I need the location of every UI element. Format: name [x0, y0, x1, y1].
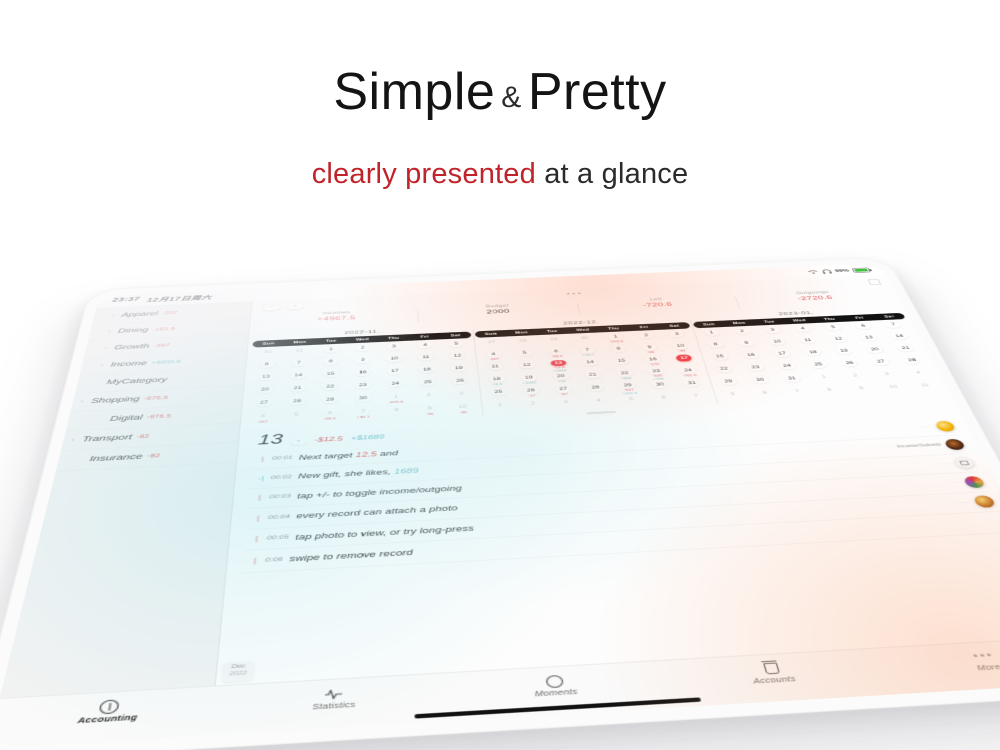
record-type-icon[interactable]: |	[254, 514, 262, 522]
calendar-day-cell[interactable]: 29	[538, 336, 571, 349]
day-number[interactable]: 17	[676, 354, 693, 361]
calendar-day-cell[interactable]: 12	[441, 352, 474, 365]
calendar-day-cell[interactable]: 6	[847, 322, 883, 334]
circle-icon[interactable]	[444, 667, 665, 695]
day-number[interactable]: 23	[355, 381, 371, 389]
tab-accounting[interactable]: Accounting	[0, 692, 223, 730]
day-number[interactable]: 2	[525, 400, 542, 408]
calendar-day-cell[interactable]: 4-287	[245, 412, 280, 427]
record-type-icon[interactable]: -|	[257, 475, 265, 482]
calendar-day-cell[interactable]: 1-876.5	[379, 392, 412, 406]
day-number[interactable]: 27	[872, 358, 890, 365]
calendar-day-cell[interactable]: 26	[444, 377, 478, 391]
day-number[interactable]: 10	[672, 342, 689, 349]
day-number[interactable]: 13	[550, 360, 566, 366]
day-number[interactable]: 14	[582, 359, 599, 366]
calendar-day-cell[interactable]: 18+6.6	[480, 375, 514, 389]
day-number[interactable]: 7	[885, 321, 903, 328]
calendar-day-cell[interactable]: 4	[581, 396, 617, 410]
day-number[interactable]: 4	[417, 341, 432, 348]
day-number[interactable]: 8	[707, 341, 724, 348]
day-number[interactable]: 15	[323, 370, 339, 378]
calendar-day-cell[interactable]: 6-89.6	[540, 347, 574, 360]
day-number[interactable]: 4	[909, 369, 928, 377]
calendar-day-cell[interactable]: 1	[315, 345, 347, 358]
calendar-day-cell[interactable]: 4-287	[477, 350, 510, 363]
calendar-day-cell[interactable]: 3	[661, 330, 695, 343]
day-number[interactable]: 7	[355, 407, 371, 415]
sidebar-item-dining[interactable]: ›Dining-161.6	[88, 318, 250, 341]
calendar-day-cell[interactable]: 27	[864, 358, 901, 371]
sidebar-item-income[interactable]: ›Income+4800.6	[79, 351, 246, 376]
calendar-day-cell[interactable]: 2	[726, 327, 761, 339]
calendar-day-cell[interactable]: 14	[883, 332, 919, 345]
chevron-right-icon[interactable]: ›	[67, 438, 78, 443]
day-number[interactable]: 1	[815, 373, 833, 381]
day-number[interactable]: 1	[492, 401, 509, 409]
window-dots-icon[interactable]: •••	[566, 291, 584, 297]
day-number[interactable]: 3	[557, 398, 574, 406]
day-number[interactable]: 18	[804, 349, 822, 356]
calendar-day-cell[interactable]: 12	[510, 361, 544, 374]
calendar-day-cell[interactable]: 15	[605, 357, 639, 370]
day-number[interactable]: 20	[552, 372, 569, 380]
day-number[interactable]: 1	[703, 329, 720, 336]
sidebar-item-transport[interactable]: ›Transport-82	[61, 423, 240, 451]
sidebar-item-apparel[interactable]: ›Apparel-207	[92, 302, 251, 324]
tab-moments[interactable]: Moments	[444, 667, 667, 704]
day-number[interactable]: 29	[619, 382, 636, 389]
calendar-day-cell[interactable]: 10	[761, 338, 796, 351]
day-number[interactable]: 30	[260, 348, 276, 355]
day-number[interactable]: 18	[489, 375, 505, 383]
calendar-day-cell[interactable]: 1	[807, 373, 844, 387]
calendar-day-cell[interactable]: 7	[780, 387, 817, 401]
calendar-day-cell[interactable]: 10	[876, 383, 914, 397]
day-number[interactable]: 7	[788, 387, 806, 395]
sidebar-item-insurance[interactable]: Insurance-82	[56, 443, 238, 472]
calendar-day-cell[interactable]: 24-761.5	[671, 366, 706, 379]
record-more-icon[interactable]: ···	[939, 461, 952, 466]
calendar-day-cell[interactable]: 21	[281, 384, 314, 398]
chevron-right-icon[interactable]: ›	[77, 399, 87, 404]
day-number[interactable]: 11	[799, 337, 817, 344]
day-number[interactable]: 30	[651, 381, 668, 389]
calendar-day-cell[interactable]: 4	[409, 341, 441, 354]
day-number[interactable]: 29	[720, 378, 738, 386]
calendar-day-cell[interactable]: 11	[479, 362, 512, 375]
calendar-day-cell[interactable]: 24	[379, 379, 412, 393]
day-number[interactable]: 6	[548, 348, 564, 355]
day-number[interactable]: 23	[747, 364, 765, 372]
calendar-day-cell[interactable]: 30	[251, 348, 284, 361]
calendar-title[interactable]: 2023-01.	[690, 305, 902, 322]
calendar-day-cell[interactable]: 27	[476, 338, 509, 351]
day-number[interactable]: 16	[644, 356, 661, 363]
day-number[interactable]: 9	[421, 404, 437, 412]
day-number[interactable]: 8	[820, 386, 838, 394]
day-number[interactable]: 27	[256, 399, 272, 407]
sidebar-item-digital[interactable]: Digital-876.5	[66, 404, 242, 431]
calendar-day-cell[interactable]: 23-526+765	[640, 368, 675, 381]
calendar-day-cell[interactable]: 31	[775, 374, 812, 388]
calendar-day-cell[interactable]: 6	[748, 389, 785, 403]
day-number[interactable]: 2	[355, 344, 370, 351]
day-number[interactable]: 8	[388, 406, 404, 414]
day-number[interactable]: 2	[638, 332, 655, 339]
calendar-day-cell[interactable]: 28	[895, 356, 932, 369]
calendar-title[interactable]: 2022-11.	[253, 323, 471, 341]
day-number[interactable]: 5	[724, 390, 742, 398]
day-number[interactable]: 15	[613, 357, 630, 364]
calendar-day-cell[interactable]: 6	[646, 393, 682, 407]
day-number[interactable]: 10	[454, 403, 471, 411]
record-type-icon[interactable]: |	[252, 535, 260, 543]
calendar-month-2022-12[interactable]: 2022-12.SunMonTueWedThuFriSat272829301-8…	[474, 314, 715, 415]
day-number[interactable]: 13	[860, 334, 878, 341]
day-number[interactable]: 21	[290, 384, 306, 392]
calendar-day-cell[interactable]: 21	[889, 344, 926, 357]
calendar-icon[interactable]	[867, 279, 881, 285]
calendar-day-cell[interactable]: 19+1250	[512, 373, 546, 387]
day-number[interactable]: 5	[288, 411, 304, 419]
category-sidebar[interactable]: ›Apparel-207›Dining-161.6›Growth-287›Inc…	[0, 301, 253, 698]
plus-icon[interactable]: +	[291, 438, 307, 445]
calendar-day-cell[interactable]: 6	[250, 360, 283, 373]
calendar-day-cell[interactable]: 14	[574, 358, 608, 371]
record-more-icon[interactable]: ···	[959, 500, 972, 505]
calendar-day-cell[interactable]: 8	[315, 357, 347, 370]
day-number[interactable]: 26	[523, 387, 540, 395]
day-number[interactable]: 25	[420, 378, 436, 386]
calendar-day-cell[interactable]: 5	[440, 340, 472, 353]
minus-pill-icon[interactable]: −	[262, 304, 280, 311]
calendar-day-cell[interactable]: 15	[314, 370, 347, 383]
calendar-day-cell[interactable]: 22+900	[608, 369, 643, 382]
calendar-day-cell[interactable]: 25	[411, 378, 444, 392]
day-number[interactable]: 27	[555, 385, 572, 393]
record-photo-thumbnail[interactable]	[934, 421, 956, 432]
day-number[interactable]: 10	[387, 355, 403, 362]
day-number[interactable]: 25	[809, 361, 827, 369]
calendar-day-cell[interactable]: 28	[280, 397, 314, 411]
day-number[interactable]: 11	[487, 363, 503, 371]
sidebar-item-growth[interactable]: ›Growth-287	[84, 334, 249, 358]
calendar-day-cell[interactable]: 3	[549, 398, 584, 412]
day-number[interactable]: 8	[323, 358, 338, 365]
calendar-day-cell[interactable]: 16-176	[636, 355, 671, 368]
calendar-day-cell[interactable]: 22	[314, 382, 347, 396]
day-number[interactable]: 19	[521, 374, 538, 382]
calendar-day-cell[interactable]: 30	[347, 394, 380, 408]
day-number[interactable]: 6	[756, 389, 774, 397]
calendar-day-cell[interactable]: 5	[509, 349, 542, 362]
calendar-day-cell[interactable]: 21	[576, 371, 611, 385]
day-number[interactable]: 31	[292, 347, 307, 354]
day-number[interactable]: 24	[679, 367, 696, 375]
record-photo-thumbnail[interactable]	[962, 476, 986, 488]
calendar-day-cell[interactable]: 10	[378, 355, 410, 368]
day-number[interactable]: 12	[519, 361, 535, 369]
calendar-day-cell[interactable]: 3	[870, 370, 907, 383]
day-number[interactable]: 9	[641, 344, 658, 351]
calendar-day-cell[interactable]: 19	[827, 347, 863, 360]
calendar-day-cell[interactable]: 19	[443, 364, 476, 377]
day-number[interactable]: 9	[852, 384, 871, 392]
day-number[interactable]: 28	[903, 357, 921, 364]
calendar-day-cell[interactable]: 4	[901, 369, 939, 382]
day-number[interactable]: 26	[841, 359, 859, 366]
calendar-day-cell[interactable]: 7	[282, 359, 315, 372]
day-number[interactable]: 29	[546, 336, 562, 343]
day-number[interactable]: 12	[830, 335, 848, 342]
calendar-day-cell[interactable]: 5	[817, 323, 852, 335]
calendar-day-cell[interactable]: 8	[812, 386, 849, 400]
day-number[interactable]: 2	[421, 391, 437, 399]
day-number[interactable]: 30	[577, 335, 593, 342]
day-number[interactable]: 9	[355, 356, 370, 363]
calendar-day-cell[interactable]: 31	[675, 379, 711, 393]
chevron-right-icon[interactable]: ›	[105, 329, 115, 333]
calendar-day-cell[interactable]: 9	[730, 339, 765, 352]
drag-handle[interactable]	[586, 411, 616, 414]
day-number[interactable]: 30	[751, 376, 769, 384]
calendar-day-cell[interactable]: 3	[756, 326, 791, 338]
day-number[interactable]: 4	[590, 397, 607, 405]
calendar-day-cell[interactable]: 5	[614, 395, 650, 409]
day-number[interactable]: 20	[866, 346, 884, 353]
chevron-right-icon[interactable]: ›	[108, 313, 117, 317]
day-number[interactable]: 30	[355, 394, 371, 402]
calendar-day-cell[interactable]: 2	[838, 371, 875, 385]
day-number[interactable]: 6	[855, 322, 873, 329]
calendar-day-cell[interactable]: 11	[791, 336, 827, 349]
record-type-icon[interactable]: |	[256, 494, 264, 501]
day-number[interactable]: 11	[418, 354, 434, 361]
calendar-day-cell[interactable]: 9-65	[633, 343, 667, 356]
calendar-day-cell[interactable]: 17	[379, 367, 412, 380]
day-number[interactable]: 7	[687, 392, 705, 400]
calendar-day-cell[interactable]: 9	[844, 384, 882, 398]
day-number[interactable]: 31	[683, 379, 701, 387]
calendar-day-cell[interactable]: 5	[716, 390, 753, 404]
day-number[interactable]: 17	[773, 350, 791, 357]
day-number[interactable]: 21	[584, 371, 601, 379]
calendar-day-cell[interactable]: 26	[833, 359, 870, 372]
calendar-month-2022-11[interactable]: 2022-11.SunMonTueWedThuFriSat30311234567…	[245, 323, 480, 426]
calendar-day-cell[interactable]: 30	[643, 380, 679, 394]
day-number[interactable]: 5	[622, 395, 639, 403]
bottom-tab-bar[interactable]: AccountingStatisticsMomentsAccounts•••Mo…	[0, 636, 1000, 749]
calendar-day-cell[interactable]: 8	[602, 345, 636, 358]
calendar-day-cell[interactable]: 10-89	[446, 402, 480, 416]
calendar-day-cell[interactable]: 10-89	[664, 342, 699, 355]
calendar-day-cell[interactable]: 3	[378, 343, 410, 356]
day-number[interactable]: 20	[257, 386, 273, 394]
tab-statistics[interactable]: Statistics	[221, 680, 446, 717]
calendar-day-cell[interactable]: 6-89.6	[313, 409, 347, 423]
pulse-icon[interactable]	[222, 680, 446, 709]
day-number[interactable]: 16	[355, 369, 371, 377]
calendar-day-cell[interactable]: 13	[249, 373, 282, 387]
day-number[interactable]: 1	[388, 393, 404, 401]
calendar-day-cell[interactable]: 2	[412, 391, 446, 405]
day-number[interactable]: 19	[835, 347, 853, 354]
day-number[interactable]: 24	[778, 362, 796, 370]
day-number[interactable]: 7	[579, 346, 595, 353]
day-number[interactable]: 2	[846, 372, 864, 380]
sidebar-item-shopping[interactable]: ›Shopping-876.5	[70, 386, 243, 412]
day-number[interactable]: 28	[587, 384, 604, 392]
day-number[interactable]: 15	[711, 353, 728, 360]
calendar-day-cell[interactable]: 16	[347, 368, 379, 381]
record-photo-thumbnail[interactable]	[943, 439, 966, 451]
day-number[interactable]: 1	[607, 333, 623, 340]
calendar-day-cell[interactable]: 31	[283, 347, 315, 360]
day-number[interactable]: 27	[484, 339, 500, 346]
day-number[interactable]: 14	[290, 372, 306, 380]
day-number[interactable]: 6	[655, 394, 673, 402]
calendar-day-cell[interactable]: 13-12.5+1689	[542, 360, 576, 373]
calendar-day-cell[interactable]: 18	[796, 348, 832, 361]
day-number[interactable]: 24	[387, 380, 403, 388]
calendar-day-cell[interactable]: 20	[248, 385, 282, 399]
calendar-day-cell[interactable]: 30	[743, 376, 779, 390]
summary-cell-incomes[interactable]: Incomes+4967.5	[254, 308, 418, 332]
coin-icon[interactable]	[0, 692, 223, 721]
calendar-day-cell[interactable]: 20	[858, 345, 895, 358]
record-row[interactable]: |00:01Next target 12.5 and···	[251, 418, 959, 470]
day-number[interactable]: 31	[783, 375, 801, 383]
day-number[interactable]: 19	[451, 364, 467, 372]
day-number[interactable]: 13	[258, 373, 274, 381]
ellipsis-icon[interactable]: •••	[875, 643, 1000, 670]
day-number[interactable]: 25	[490, 388, 507, 396]
day-number[interactable]: 22	[715, 365, 733, 373]
day-number[interactable]: 5	[449, 340, 465, 347]
day-number[interactable]: 12	[450, 352, 466, 359]
calendar-day-cell[interactable]: 30	[569, 334, 602, 347]
calendar-month-2023-01[interactable]: 2023-01.SunMonTueWedThuFriSat12345678910…	[690, 305, 946, 404]
day-number[interactable]: 7	[291, 359, 307, 366]
record-more-icon[interactable]: ···	[921, 425, 933, 430]
calendar-day-cell[interactable]: 28	[579, 383, 614, 397]
calendar-day-cell[interactable]: 7	[877, 321, 913, 333]
record-row[interactable]: |00:03tap +/- to toggle income/outgoing·…	[248, 453, 979, 509]
day-number[interactable]: 3	[669, 331, 686, 338]
record-row[interactable]: |00:05tap photo to view, or try long-pre…	[244, 492, 999, 551]
calendar-day-cell[interactable]: 9	[347, 356, 379, 369]
record-row[interactable]: -|00:02New gift, she likes, 1689Income/S…	[249, 435, 968, 489]
record-more-icon[interactable]: ···	[949, 480, 962, 485]
day-number[interactable]: 28	[515, 337, 531, 344]
summary-cell-budget[interactable]: Budget2000	[417, 301, 580, 325]
calendar-day-cell[interactable]: 9-65	[413, 404, 447, 418]
calendar-day-cell[interactable]: 17	[668, 354, 703, 367]
day-number[interactable]: 4	[485, 351, 501, 358]
calendar-day-cell[interactable]: 29-527+161.5	[611, 382, 646, 396]
calendar-day-cell[interactable]: 17	[765, 350, 801, 363]
calendar-day-cell[interactable]: 2	[347, 344, 379, 357]
calendar-day-cell[interactable]: 11	[410, 353, 443, 366]
day-number[interactable]: 8	[610, 345, 627, 352]
chevron-right-icon[interactable]: ›	[97, 363, 107, 368]
circle-pill-icon[interactable]: ○	[286, 303, 304, 310]
day-number[interactable]: 16	[742, 351, 759, 358]
day-number[interactable]: 23	[648, 368, 665, 374]
calendar-day-cell[interactable]: 22	[707, 365, 743, 378]
calendar-day-cell[interactable]: 8	[380, 406, 414, 420]
day-number[interactable]: 29	[322, 396, 338, 404]
calendar-title[interactable]: 2022-12.	[474, 314, 689, 331]
calendar-day-cell[interactable]: 29	[313, 395, 346, 409]
calendar-day-cell[interactable]: 14	[282, 371, 315, 385]
calendar-day-cell[interactable]: 2	[630, 332, 664, 345]
calendar-day-cell[interactable]: 23	[347, 381, 380, 395]
calendar-day-cell[interactable]: 23	[739, 363, 775, 376]
chevron-right-icon[interactable]: ›	[101, 346, 111, 351]
calendar-day-cell[interactable]: 20+15	[544, 372, 578, 386]
day-number[interactable]: 22	[616, 369, 633, 377]
day-number[interactable]: 22	[322, 383, 338, 391]
record-row[interactable]: |0:06swipe to remove record	[242, 512, 1000, 573]
day-number[interactable]: 5	[824, 324, 841, 331]
calendar-day-cell[interactable]: 7+16.7	[571, 346, 605, 359]
calendar-day-cell[interactable]: 25	[801, 360, 837, 373]
day-number[interactable]: 3	[453, 390, 469, 398]
calendar-day-cell[interactable]: 8	[699, 340, 734, 353]
calendar-day-cell[interactable]: 28	[507, 337, 540, 350]
calendar-day-cell[interactable]: 3	[445, 389, 479, 403]
day-number[interactable]: 18	[419, 366, 435, 374]
day-number[interactable]: 9	[738, 339, 755, 346]
day-number[interactable]: 6	[259, 361, 275, 368]
calendar-day-cell[interactable]: 4	[786, 325, 821, 337]
calendar-day-cell[interactable]: 27	[246, 398, 280, 412]
day-number[interactable]: 2	[734, 328, 751, 335]
calendar-day-cell[interactable]: 12	[822, 335, 858, 348]
record-photo-thumbnail[interactable]	[972, 495, 996, 508]
summary-cell-outgoings[interactable]: Outgoings-2720.6	[734, 288, 898, 311]
sidebar-item-mycategory[interactable]: MyCategory	[75, 368, 245, 393]
record-photo-thumbnail[interactable]	[953, 457, 976, 469]
calendar-day-cell[interactable]: 1	[483, 401, 518, 415]
day-number[interactable]: 11	[916, 382, 935, 390]
calendar-day-cell[interactable]: 27-87	[546, 385, 581, 399]
day-number[interactable]: 26	[452, 377, 468, 385]
calendar-day-cell[interactable]: 24	[770, 362, 806, 375]
trash-icon[interactable]	[662, 655, 881, 683]
summary-cell-left[interactable]: Left-720.6	[576, 294, 740, 317]
tab-accounts[interactable]: Accounts	[662, 655, 884, 691]
day-number[interactable]: 10	[884, 383, 903, 391]
day-number[interactable]: 3	[386, 343, 401, 350]
calendar-day-cell[interactable]: 7+16.7	[346, 407, 380, 421]
record-row[interactable]: |00:04every record can attach a photo···	[246, 472, 989, 529]
day-number[interactable]: 1	[323, 346, 338, 353]
day-number[interactable]: 17	[387, 367, 403, 375]
calendar-day-cell[interactable]: 29	[711, 377, 747, 391]
calendar-day-cell[interactable]: 25	[482, 388, 516, 402]
calendar-day-cell[interactable]: 7	[679, 392, 715, 406]
calendar-day-cell[interactable]: 15	[703, 352, 738, 365]
calendar-day-cell[interactable]: 26-17	[514, 386, 549, 400]
calendar-day-cell[interactable]: 2	[516, 399, 551, 413]
day-number[interactable]: 4	[794, 325, 811, 332]
day-number[interactable]: 6	[322, 409, 338, 417]
calendar-day-cell[interactable]: 1	[695, 329, 729, 341]
day-number[interactable]: 4	[254, 412, 271, 420]
